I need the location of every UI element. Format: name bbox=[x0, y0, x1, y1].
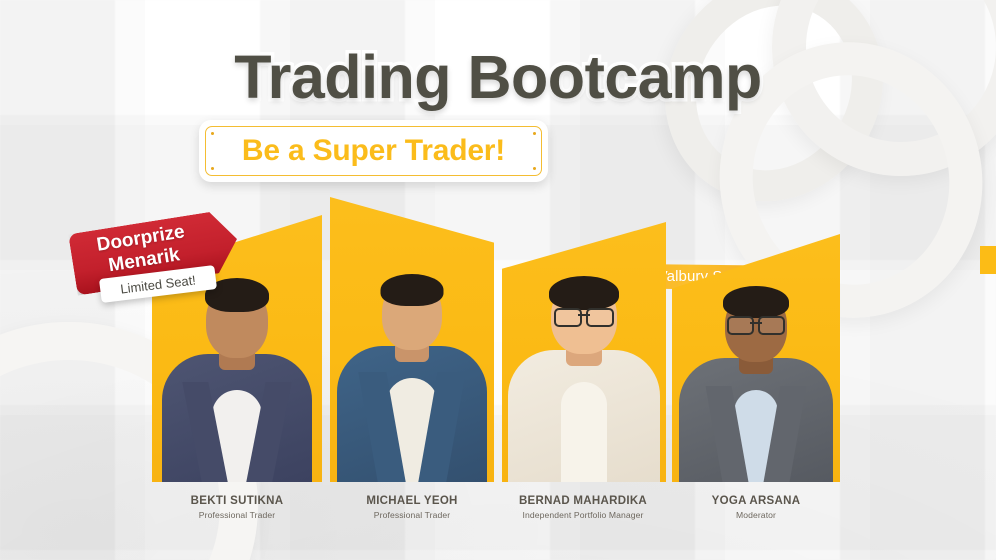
poster-canvas: Trading Bootcamp Be a Super Trader! with… bbox=[0, 0, 996, 560]
speaker-card[interactable] bbox=[330, 197, 494, 482]
speaker-name: YOGA ARSANA bbox=[646, 495, 866, 507]
speaker-caption: YOGA ARSANA Moderator bbox=[646, 495, 866, 520]
speaker-card[interactable] bbox=[672, 234, 840, 482]
speaker-role: Moderator bbox=[646, 510, 866, 520]
glasses-icon bbox=[727, 316, 785, 332]
speaker-portrait bbox=[330, 197, 494, 482]
speaker-card[interactable] bbox=[502, 222, 666, 482]
speaker-portrait bbox=[502, 222, 666, 482]
glasses-icon bbox=[554, 308, 614, 324]
speaker-portrait bbox=[672, 234, 840, 482]
